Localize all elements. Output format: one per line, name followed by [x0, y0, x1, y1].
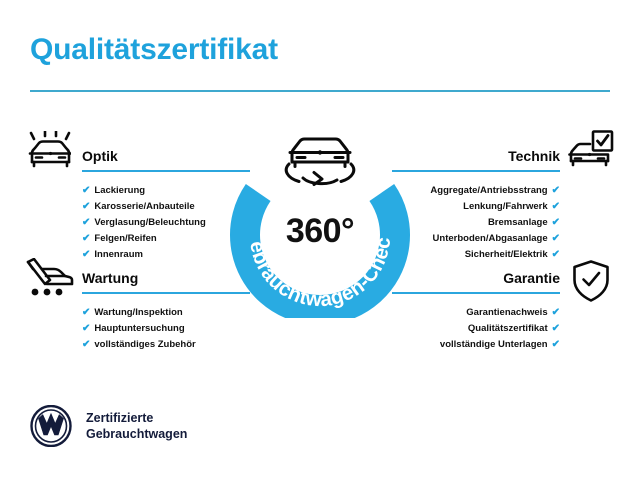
section-optik-header: Optik	[82, 148, 250, 174]
section-technik-divider	[392, 170, 560, 172]
list-item: ✔Innenraum	[82, 247, 250, 263]
check-icon: ✔	[82, 339, 90, 350]
check-icon: ✔	[82, 201, 90, 212]
list-item-label: Garantienachweis	[466, 307, 547, 318]
list-item-label: Felgen/Reifen	[94, 233, 156, 244]
section-wartung-header: Wartung	[82, 270, 250, 296]
badge-360-gebrauchtwagen-check: Gebrauchtwagen-Check 360°	[228, 118, 412, 318]
list-item-label: Verglasung/Beleuchtung	[94, 217, 205, 228]
section-wartung-divider	[82, 292, 250, 294]
section-garantie: Garantie Garantienachweis✔ Qualitätszert…	[392, 270, 560, 353]
list-item-label: Qualitätszertifikat	[468, 323, 548, 334]
section-optik-title: Optik	[82, 148, 118, 164]
list-item-label: Aggregate/Antriebsstrang	[430, 185, 547, 196]
list-item-label: vollständiges Zubehör	[94, 339, 195, 350]
check-icon: ✔	[82, 323, 90, 334]
section-wartung-title: Wartung	[82, 270, 138, 286]
check-icon: ✔	[552, 339, 560, 350]
list-item: ✔Karosserie/Anbauteile	[82, 199, 250, 215]
section-garantie-list: Garantienachweis✔ Qualitätszertifikat✔ v…	[392, 305, 560, 353]
certificate-page: Qualitätszertifikat	[0, 0, 640, 480]
list-item: vollständige Unterlagen✔	[392, 337, 560, 353]
section-garantie-divider	[392, 292, 560, 294]
section-technik: Technik Aggregate/Antriebsstrang✔ Lenkun…	[392, 148, 560, 263]
check-icon: ✔	[82, 307, 90, 318]
list-item-label: Wartung/Inspektion	[94, 307, 182, 318]
list-item-label: vollständige Unterlagen	[440, 339, 548, 350]
list-item-label: Sicherheit/Elektrik	[465, 249, 548, 260]
section-optik: Optik ✔Lackierung ✔Karosserie/Anbauteile…	[82, 148, 250, 263]
list-item: ✔vollständiges Zubehör	[82, 337, 250, 353]
page-title: Qualitätszertifikat	[30, 33, 278, 67]
list-item: ✔Verglasung/Beleuchtung	[82, 215, 250, 231]
vw-wordmark-line1: Zertifizierte	[86, 410, 187, 426]
vw-certified-logo: Zertifizierte Gebrauchtwagen	[30, 405, 187, 447]
vw-logo-icon	[30, 405, 72, 447]
list-item: Aggregate/Antriebsstrang✔	[392, 183, 560, 199]
list-item: ✔Hauptuntersuchung	[82, 321, 250, 337]
check-icon: ✔	[82, 249, 90, 260]
section-technik-header: Technik	[392, 148, 560, 174]
check-icon: ✔	[552, 249, 560, 260]
section-wartung-list: ✔Wartung/Inspektion ✔Hauptuntersuchung ✔…	[82, 305, 250, 353]
list-item-label: Unterboden/Abgasanlage	[433, 233, 548, 244]
check-icon: ✔	[552, 323, 560, 334]
service-pen-car-icon	[24, 258, 74, 305]
car-checklist-icon	[568, 130, 614, 177]
check-icon: ✔	[552, 307, 560, 318]
list-item: Sicherheit/Elektrik✔	[392, 247, 560, 263]
shield-check-icon	[572, 260, 610, 307]
list-item: Bremsanlage✔	[392, 215, 560, 231]
list-item: Unterboden/Abgasanlage✔	[392, 231, 560, 247]
section-optik-divider	[82, 170, 250, 172]
check-icon: ✔	[82, 217, 90, 228]
check-icon: ✔	[552, 217, 560, 228]
check-icon: ✔	[552, 233, 560, 244]
car-rotate-360-icon	[286, 139, 354, 185]
section-garantie-title: Garantie	[503, 270, 560, 286]
list-item-label: Lackierung	[94, 185, 145, 196]
check-icon: ✔	[82, 233, 90, 244]
list-item-label: Hauptuntersuchung	[94, 323, 184, 334]
section-technik-list: Aggregate/Antriebsstrang✔ Lenkung/Fahrwe…	[392, 183, 560, 263]
list-item-label: Lenkung/Fahrwerk	[463, 201, 547, 212]
vw-wordmark-line2: Gebrauchtwagen	[86, 426, 187, 442]
section-optik-list: ✔Lackierung ✔Karosserie/Anbauteile ✔Verg…	[82, 183, 250, 263]
section-wartung: Wartung ✔Wartung/Inspektion ✔Hauptunters…	[82, 270, 250, 353]
list-item-label: Innenraum	[94, 249, 143, 260]
list-item: Lenkung/Fahrwerk✔	[392, 199, 560, 215]
list-item: Qualitätszertifikat✔	[392, 321, 560, 337]
list-item-label: Karosserie/Anbauteile	[94, 201, 194, 212]
check-icon: ✔	[552, 185, 560, 196]
list-item-label: Bremsanlage	[488, 217, 548, 228]
list-item: ✔Felgen/Reifen	[82, 231, 250, 247]
car-shine-icon	[25, 131, 71, 176]
list-item: ✔Wartung/Inspektion	[82, 305, 250, 321]
check-icon: ✔	[552, 201, 560, 212]
list-item: ✔Lackierung	[82, 183, 250, 199]
check-icon: ✔	[82, 185, 90, 196]
vw-wordmark: Zertifizierte Gebrauchtwagen	[86, 410, 187, 442]
header-divider	[30, 90, 610, 92]
section-technik-title: Technik	[508, 148, 560, 164]
list-item: Garantienachweis✔	[392, 305, 560, 321]
section-garantie-header: Garantie	[392, 270, 560, 296]
